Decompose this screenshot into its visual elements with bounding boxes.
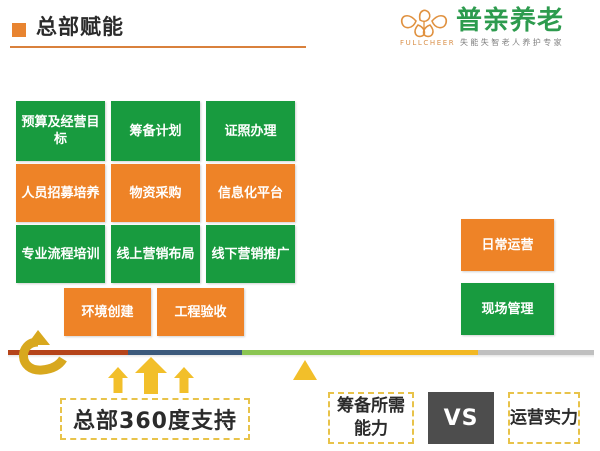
vs-badge: VS	[428, 392, 494, 444]
slide-root: 总部赋能 普亲养老 FULLCHEER 失能失智老人养护专家 预算及经营目标 筹…	[0, 0, 600, 451]
timeline-segment-phase-gray[interactable]	[478, 350, 594, 355]
brand-name-cn: 普亲养老	[456, 6, 564, 36]
capability-box[interactable]: 证照办理	[206, 101, 295, 161]
brand-tagline: 失能失智老人养护专家	[460, 38, 564, 48]
left-comparison-box[interactable]: 筹备所需能力	[328, 392, 414, 444]
capability-box[interactable]: 预算及经营目标	[16, 101, 105, 161]
timeline-marker-triangle-icon	[293, 360, 317, 380]
capability-box[interactable]: 人员招募培养	[16, 164, 105, 222]
operations-box[interactable]: 现场管理	[461, 283, 554, 335]
support-caption-box[interactable]: 总部360度支持	[60, 398, 250, 440]
up-arrow-large-icon	[135, 357, 167, 394]
timeline-shadow	[8, 355, 594, 358]
header-bullet-icon	[12, 23, 26, 37]
up-arrow-small-left-icon	[108, 367, 128, 393]
curved-arrow-icon	[8, 328, 70, 380]
timeline-segment-phase-blue[interactable]	[128, 350, 242, 355]
capability-box[interactable]: 专业流程培训	[16, 225, 105, 283]
capability-box[interactable]: 线下营销推广	[206, 225, 295, 283]
page-title: 总部赋能	[36, 13, 124, 41]
up-arrow-small-right-icon	[174, 367, 194, 393]
operations-box[interactable]: 日常运营	[461, 219, 554, 271]
capability-box[interactable]: 线上营销布局	[111, 225, 200, 283]
capability-box[interactable]: 筹备计划	[111, 101, 200, 161]
clover-icon	[398, 8, 450, 38]
right-comparison-box[interactable]: 运营实力	[508, 392, 580, 444]
capability-box[interactable]: 环境创建	[64, 288, 151, 336]
capability-box[interactable]: 工程验收	[157, 288, 244, 336]
brand-name-en: FULLCHEER	[400, 39, 455, 48]
timeline-segment-phase-green[interactable]	[242, 350, 360, 355]
capability-box[interactable]: 物资采购	[111, 164, 200, 222]
capability-box[interactable]: 信息化平台	[206, 164, 295, 222]
brand-logo: 普亲养老 FULLCHEER 失能失智老人养护专家	[398, 6, 594, 50]
timeline-segment-phase-gold[interactable]	[360, 350, 478, 355]
header-divider	[10, 46, 306, 48]
